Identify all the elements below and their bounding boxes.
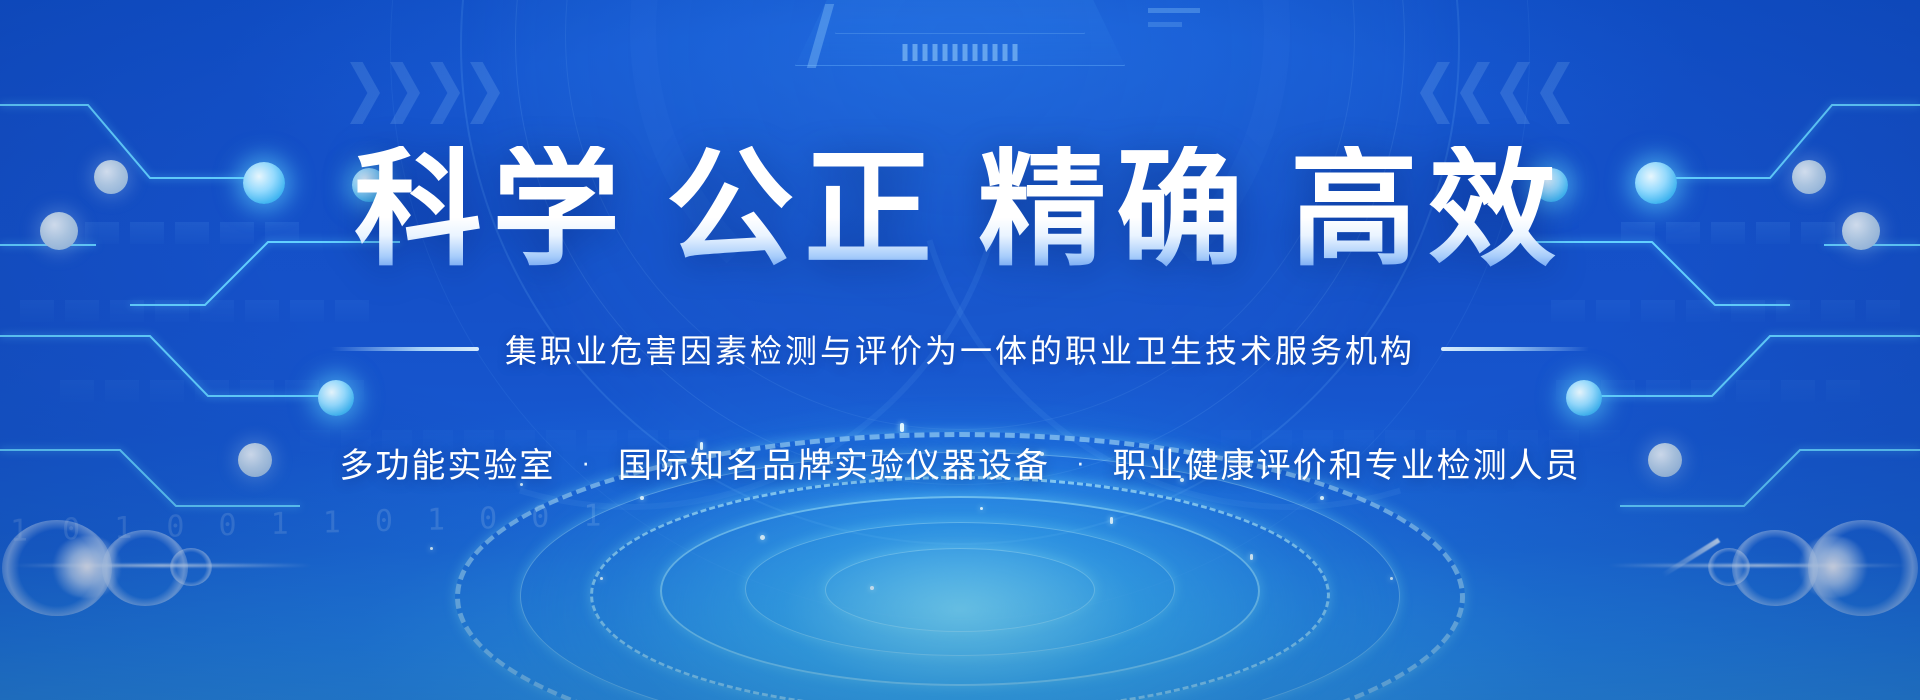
subtitle-dash-left [331,347,479,351]
tagline-item-2: 国际知名品牌实验仪器设备 [618,438,1050,487]
banner-subtitle: 集职业危害因素检测与评价为一体的职业卫生技术服务机构 [505,326,1415,372]
tagline-separator-1: · [581,447,592,478]
headline-word-2: 公正 [666,138,942,281]
banner-content: 科学公正精确高效 集职业危害因素检测与评价为一体的职业卫生技术服务机构 多功能实… [0,0,1920,700]
headline-word-3: 精确 [978,138,1254,281]
tagline-item-1: 多功能实验室 [339,438,555,487]
headline-word-1: 科学 [354,138,630,281]
tagline-item-3: 职业健康评价和专业检测人员 [1113,438,1581,487]
tagline-separator-2: · [1076,447,1087,478]
banner-headline: 科学公正精确高效 [354,146,1566,274]
banner-tagline: 多功能实验室 · 国际知名品牌实验仪器设备 · 职业健康评价和专业检测人员 [339,438,1580,487]
headline-word-4: 高效 [1290,138,1566,281]
tech-banner: 1 0 1 0 0 1 1 0 1 0 0 1 [0,0,1920,700]
subtitle-dash-right [1441,347,1589,351]
subtitle-row: 集职业危害因素检测与评价为一体的职业卫生技术服务机构 [331,326,1589,372]
